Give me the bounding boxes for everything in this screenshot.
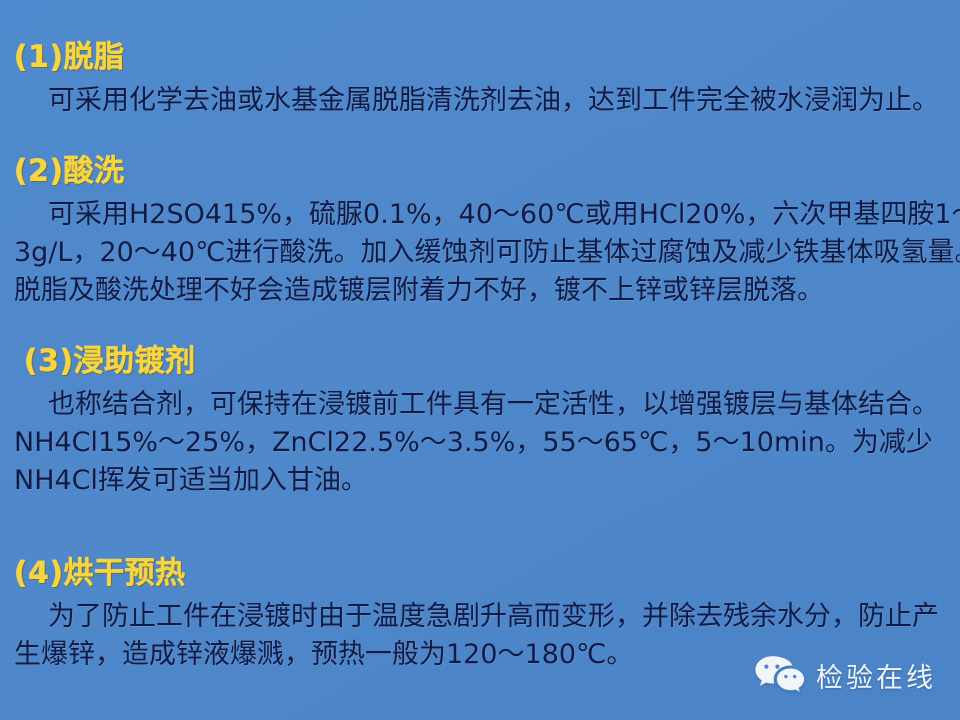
- spacer-1: [14, 124, 946, 152]
- section-4-line-1: 为了防止工件在浸镀时由于温度急剧升高而变形，并除去残余水分，防止产: [14, 598, 946, 636]
- section-degreasing: (1)脱脂 可采用化学去油或水基金属脱脂清洗剂去油，达到工件完全被水浸润为止。: [14, 38, 946, 120]
- section-3-line-1: 也称结合剂，可保持在浸镀前工件具有一定活性，以增强镀层与基体结合。: [14, 386, 946, 424]
- section-2-heading: (2)酸洗: [14, 152, 946, 192]
- section-2-line-3: 脱脂及酸洗处理不好会造成镀层附着力不好，镀不上锌或锌层脱落。: [14, 272, 946, 310]
- section-2-body: 可采用H2SO415%，硫脲0.1%，40～60℃或用HCl20%，六次甲基四胺…: [14, 196, 946, 310]
- section-fluxing: (3)浸助镀剂 也称结合剂，可保持在浸镀前工件具有一定活性，以增强镀层与基体结合…: [14, 342, 946, 500]
- watermark-label: 检验在线: [816, 656, 936, 695]
- section-3-line-2: NH4Cl15%～25%，ZnCl22.5%～3.5%，55～65℃，5～10m…: [14, 424, 946, 462]
- spacer-3: [14, 504, 946, 554]
- slide-content: (1)脱脂 可采用化学去油或水基金属脱脂清洗剂去油，达到工件完全被水浸润为止。 …: [0, 0, 960, 674]
- watermark: 检验在线: [754, 654, 936, 696]
- section-3-body: 也称结合剂，可保持在浸镀前工件具有一定活性，以增强镀层与基体结合。 NH4Cl1…: [14, 386, 946, 500]
- section-2-line-1: 可采用H2SO415%，硫脲0.1%，40～60℃或用HCl20%，六次甲基四胺…: [14, 196, 946, 234]
- section-4-heading: (4)烘干预热: [14, 554, 946, 594]
- section-2-line-2: 3g/L，20～40℃进行酸洗。加入缓蚀剂可防止基体过腐蚀及减少铁基体吸氢量。: [14, 234, 946, 272]
- wechat-icon: [754, 654, 806, 696]
- section-3-heading: (3)浸助镀剂: [14, 342, 946, 382]
- section-3-line-3: NH4Cl挥发可适当加入甘油。: [14, 462, 946, 500]
- section-1-heading: (1)脱脂: [14, 38, 946, 78]
- section-1-line-1: 可采用化学去油或水基金属脱脂清洗剂去油，达到工件完全被水浸润为止。: [14, 82, 946, 120]
- spacer-2: [14, 314, 946, 342]
- slide-canvas: (1)脱脂 可采用化学去油或水基金属脱脂清洗剂去油，达到工件完全被水浸润为止。 …: [0, 0, 960, 720]
- section-1-body: 可采用化学去油或水基金属脱脂清洗剂去油，达到工件完全被水浸润为止。: [14, 82, 946, 120]
- section-pickling: (2)酸洗 可采用H2SO415%，硫脲0.1%，40～60℃或用HCl20%，…: [14, 152, 946, 310]
